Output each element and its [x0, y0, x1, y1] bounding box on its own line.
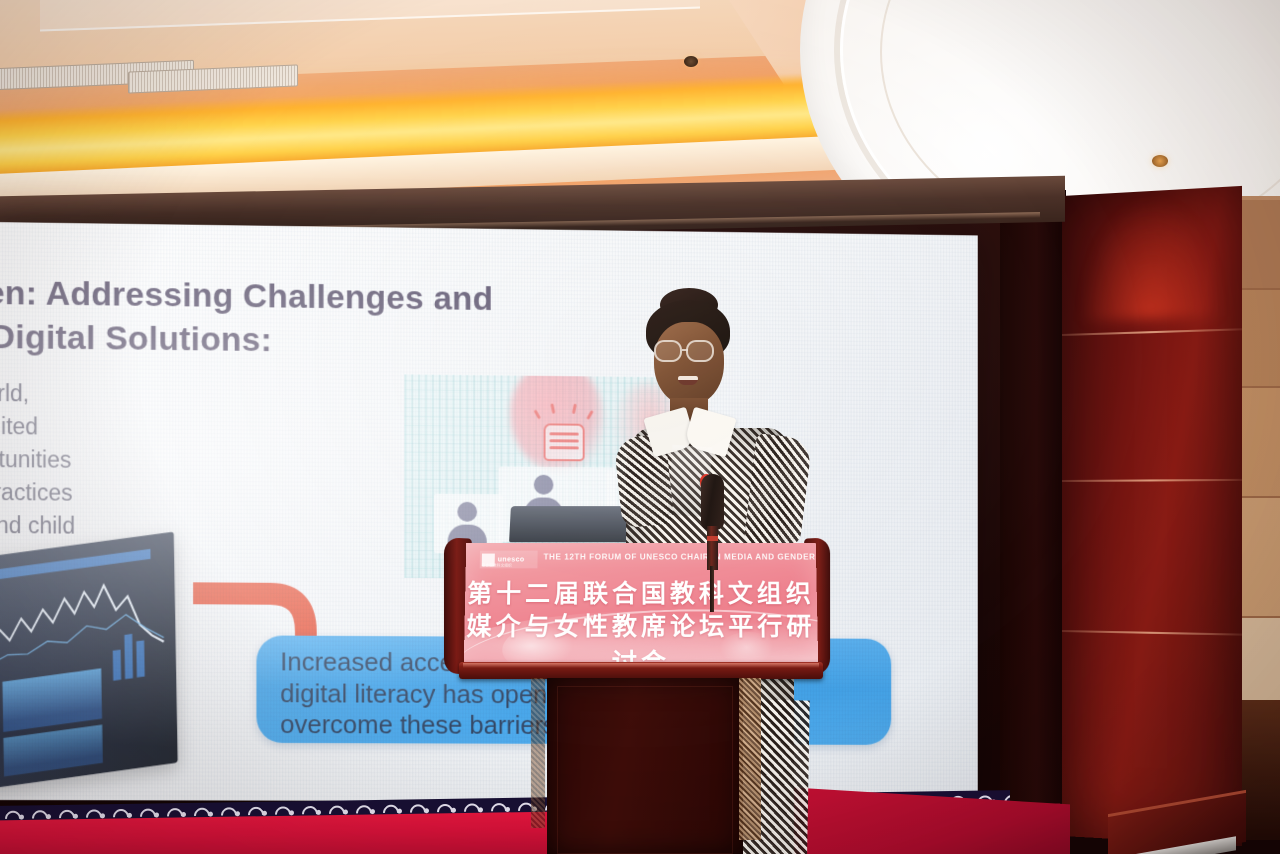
- panel-seam: [1062, 479, 1242, 482]
- slide-body-line: es—from limited: [0, 409, 339, 446]
- podium-mesh-left: [531, 678, 545, 828]
- panel-seam: [1062, 630, 1242, 636]
- lily-flower-icon: [502, 626, 575, 666]
- eyeglasses-icon: [686, 340, 714, 362]
- slide-body-line: e, harmful practices: [0, 475, 339, 512]
- mahogany-wall-panels: [1062, 186, 1242, 846]
- podium-chinese-title-line-1: 第十二届联合国教科文组织: [465, 574, 817, 610]
- podium-english-title: THE 12TH FORUM OF UNESCO CHAIR IN MEDIA …: [543, 553, 810, 562]
- mouth: [678, 376, 698, 385]
- podium-base: [547, 678, 743, 854]
- podium-ledge-highlight: [463, 663, 819, 668]
- financial-dashboard-photo: [0, 532, 178, 802]
- slide-body-text: rts of the world, es—from limited nomic …: [0, 376, 339, 545]
- unesco-logo-text: unesco: [498, 556, 525, 563]
- podium-chinese-title-line-2: 媒介与女性教席论坛平行研讨会: [464, 607, 819, 666]
- panel-seam: [1062, 328, 1242, 336]
- blazer-shoulder-right: [744, 433, 813, 549]
- microphone: [701, 474, 724, 530]
- microphone-band: [707, 536, 718, 541]
- downlight-icon: [684, 56, 698, 67]
- eyeglasses-icon: [654, 340, 682, 362]
- podium-base-inset: [557, 686, 733, 854]
- unesco-logo-subtext: 联合国教科文组织: [482, 563, 512, 568]
- podium-mesh-right: [739, 678, 761, 840]
- podium: unesco 联合国教科文组织 THE 12TH FORUM OF UNESCO…: [443, 536, 831, 854]
- podium-banner: unesco 联合国教科文组织 THE 12TH FORUM OF UNESCO…: [464, 543, 819, 666]
- wall-spotlight-glow: [1080, 193, 1223, 321]
- slide-body-line: nomic opportunities: [0, 442, 339, 479]
- unesco-logo: unesco 联合国教科文组织: [480, 551, 538, 569]
- conference-stage-photo: n Women: Addressing Challenges and essin…: [0, 0, 1280, 854]
- microphone-stem: [710, 566, 714, 612]
- face: [654, 322, 724, 406]
- microphone-body: [707, 526, 718, 570]
- eyeglasses-bridge: [682, 349, 688, 351]
- wall-recess-gap: [1000, 190, 1066, 840]
- microphone-head: [701, 474, 724, 530]
- downlight-icon-2: [1152, 155, 1168, 167]
- slide-body-line: rts of the world,: [0, 376, 339, 414]
- lily-flower-icon-2: [719, 632, 774, 666]
- raised-fist-icon: [544, 423, 585, 461]
